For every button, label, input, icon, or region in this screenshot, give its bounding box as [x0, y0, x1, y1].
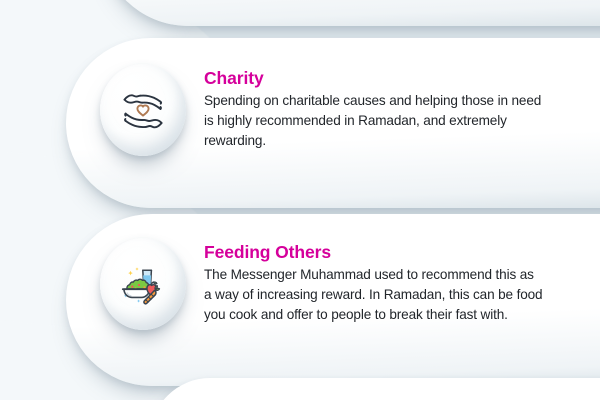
section-feeding-others: Feeding Others The Messenger Muhammad us… — [100, 238, 570, 330]
card-next-partial — [150, 378, 600, 400]
healthy-food-plate-icon — [117, 258, 169, 310]
heart-icon — [137, 105, 148, 115]
charity-body: Spending on charitable causes and helpin… — [204, 91, 544, 151]
charity-copy: Charity Spending on charitable causes an… — [204, 64, 544, 151]
hands-holding-heart-icon — [116, 83, 170, 137]
charity-heading: Charity — [204, 68, 544, 88]
infographic-canvas: Charity Spending on charitable causes an… — [0, 0, 600, 400]
feeding-copy: Feeding Others The Messenger Muhammad us… — [204, 238, 544, 325]
feeding-heading: Feeding Others — [204, 242, 544, 262]
salad-icon — [127, 279, 149, 289]
card-previous-partial — [100, 0, 600, 26]
feeding-icon-medallion — [100, 238, 186, 330]
charity-icon-medallion — [100, 64, 186, 156]
section-charity: Charity Spending on charitable causes an… — [100, 64, 570, 156]
feeding-body: The Messenger Muhammad used to recommend… — [204, 265, 544, 325]
